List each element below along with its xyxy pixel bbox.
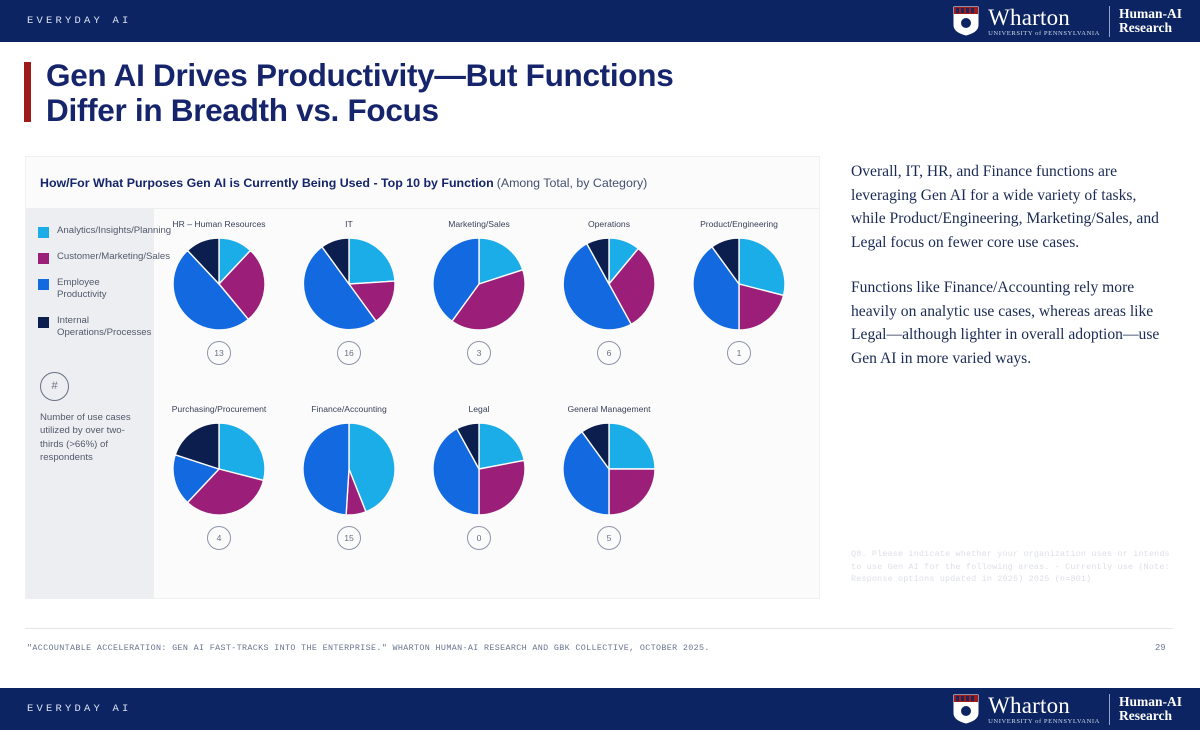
pie-chart-title: Marketing/Sales: [414, 219, 544, 229]
legend-note-text: Number of use cases utilized by over two…: [38, 411, 144, 465]
pie-chart-title: General Management: [544, 404, 674, 414]
wharton-logo: Wharton UNIVERSITY of PENNSYLVANIA Human…: [953, 6, 1200, 37]
human-ai-research-unit-footer: Human-AI Research: [1119, 695, 1182, 724]
pie-chart-graphic: [433, 423, 525, 515]
legend-swatch-analytics: [38, 227, 49, 238]
title-accent-rule: [24, 62, 31, 122]
wharton-wordmark-footer: Wharton UNIVERSITY of PENNSYLVANIA: [988, 694, 1110, 725]
commentary-paragraph-2: Functions like Finance/Accounting rely m…: [851, 276, 1171, 370]
pie-chart-graphic: [173, 423, 265, 515]
slide: EVERYDAY AI Wharton UNIVERSITY of PENNSY…: [0, 0, 1200, 730]
pie-chart-graphic: [433, 238, 525, 330]
use-case-count-badge: 5: [597, 526, 621, 550]
use-case-count-badge: 15: [337, 526, 361, 550]
brand-label-bottom: EVERYDAY AI: [0, 703, 132, 715]
pie-chart-title: Product/Engineering: [674, 219, 804, 229]
unit-line-1-footer: Human-AI: [1119, 694, 1182, 709]
top-brand-bar: EVERYDAY AI Wharton UNIVERSITY of PENNSY…: [0, 0, 1200, 42]
legend-item-internal: Internal Operations/Processes: [38, 315, 144, 340]
use-case-count-badge: 3: [467, 341, 491, 365]
use-case-count-badge: 1: [727, 341, 751, 365]
pie-chart-graphic: [173, 238, 265, 330]
survey-question-note: Q8. Please indicate whether your organiz…: [851, 548, 1173, 586]
commentary-paragraph-1: Overall, IT, HR, and Finance functions a…: [851, 160, 1171, 254]
use-case-count-badge: 0: [467, 526, 491, 550]
chart-heading-bold: How/For What Purposes Gen AI is Currentl…: [40, 176, 494, 190]
pie-chart-graphic: [303, 423, 395, 515]
pie-chart-title: Finance/Accounting: [284, 404, 414, 414]
wharton-logo-footer: Wharton UNIVERSITY of PENNSYLVANIA Human…: [953, 694, 1200, 725]
use-case-count-badge: 16: [337, 341, 361, 365]
use-case-count-badge: 13: [207, 341, 231, 365]
pie-chart-grid: HR – Human Resources13IT16Marketing/Sale…: [154, 209, 819, 599]
chart-legend: Analytics/Insights/PlanningCustomer/Mark…: [26, 209, 154, 599]
bottom-brand-bar: EVERYDAY AI Wharton UNIVERSITY of PENNSY…: [0, 688, 1200, 730]
legend-item-employee: Employee Productivity: [38, 277, 144, 302]
commentary-block: Overall, IT, HR, and Finance functions a…: [851, 160, 1171, 370]
pie-chart-title: Operations: [544, 219, 674, 229]
pie-chart-graphic: [563, 238, 655, 330]
unit-line-2: Research: [1119, 20, 1172, 35]
pie-chart-cell: Marketing/Sales3: [414, 219, 544, 365]
pie-chart-cell: Finance/Accounting15: [284, 404, 414, 550]
pie-chart-graphic: [693, 238, 785, 330]
pie-chart-cell: Legal0: [414, 404, 544, 550]
source-citation: "ACCOUNTABLE ACCELERATION: GEN AI FAST-T…: [27, 643, 710, 653]
unit-line-2-footer: Research: [1119, 708, 1172, 723]
pie-chart-cell: Purchasing/Procurement4: [154, 404, 284, 550]
use-case-count-badge: 6: [597, 341, 621, 365]
pie-chart-title: Legal: [414, 404, 544, 414]
chart-heading-regular: (Among Total, by Category): [497, 176, 648, 190]
title-block: Gen AI Drives Productivity—But Functions…: [24, 58, 746, 128]
unit-line-1: Human-AI: [1119, 6, 1182, 21]
chart-panel-body: Analytics/Insights/PlanningCustomer/Mark…: [26, 209, 819, 599]
legend-label-internal: Internal Operations/Processes: [57, 315, 151, 340]
page-number: 29: [1155, 643, 1166, 653]
legend-swatch-customer: [38, 253, 49, 264]
brand-label-top: EVERYDAY AI: [0, 15, 132, 27]
pie-chart-title: HR – Human Resources: [154, 219, 284, 229]
wharton-wordmark-text-footer: Wharton: [988, 694, 1070, 717]
legend-swatch-internal: [38, 317, 49, 328]
pie-chart-title: Purchasing/Procurement: [154, 404, 284, 414]
human-ai-research-unit: Human-AI Research: [1119, 7, 1182, 36]
legend-item-customer: Customer/Marketing/Sales: [38, 251, 144, 264]
use-case-count-badge: 4: [207, 526, 231, 550]
pie-chart-graphic: [563, 423, 655, 515]
pie-chart-cell: General Management5: [544, 404, 674, 550]
page-title: Gen AI Drives Productivity—But Functions…: [46, 58, 746, 128]
pie-chart-title: IT: [284, 219, 414, 229]
pie-chart-cell: Product/Engineering1: [674, 219, 804, 365]
penn-shield-icon-footer: [953, 694, 979, 724]
pie-chart-cell: HR – Human Resources13: [154, 219, 284, 365]
wharton-subwordmark: UNIVERSITY of PENNSYLVANIA: [988, 30, 1100, 37]
use-case-count-legend-marker: #: [40, 372, 69, 401]
pie-chart-cell: IT16: [284, 219, 414, 365]
pie-chart-graphic: [303, 238, 395, 330]
citation-divider: [25, 628, 1173, 629]
pie-chart-cell: Operations6: [544, 219, 674, 365]
wharton-wordmark: Wharton UNIVERSITY of PENNSYLVANIA: [988, 6, 1110, 37]
legend-swatch-employee: [38, 279, 49, 290]
penn-shield-icon: [953, 6, 979, 36]
legend-label-employee: Employee Productivity: [57, 277, 144, 302]
chart-panel-header: How/For What Purposes Gen AI is Currentl…: [26, 157, 819, 209]
wharton-subwordmark-footer: UNIVERSITY of PENNSYLVANIA: [988, 718, 1100, 725]
wharton-wordmark-text: Wharton: [988, 6, 1070, 29]
legend-item-analytics: Analytics/Insights/Planning: [38, 225, 144, 238]
chart-panel: How/For What Purposes Gen AI is Currentl…: [25, 156, 820, 599]
